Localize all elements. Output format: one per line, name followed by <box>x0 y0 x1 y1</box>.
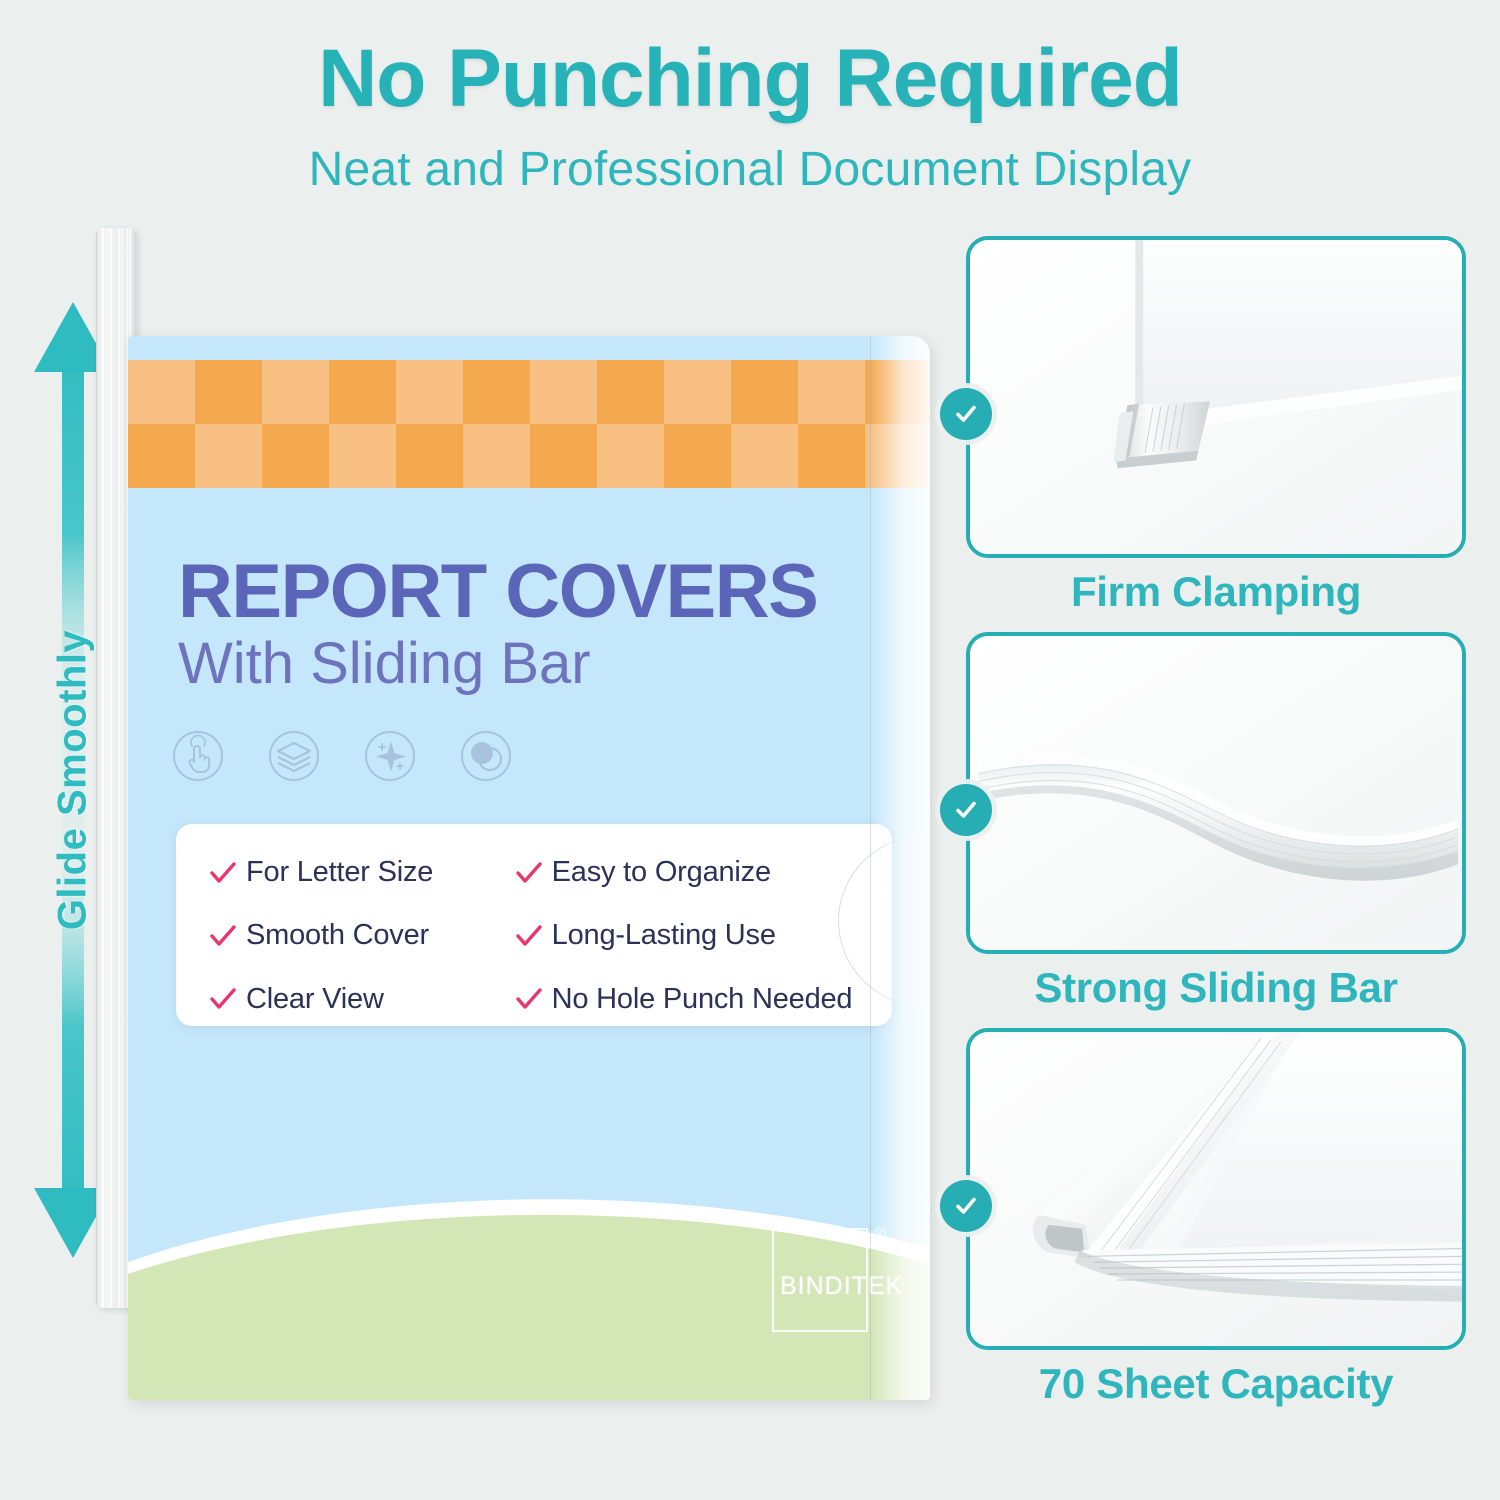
cover-title: REPORT COVERS <box>178 554 817 630</box>
overlapping-circles-icon <box>460 730 512 782</box>
check-glyph <box>951 795 981 825</box>
registered-trademark-icon: ® <box>873 1224 886 1244</box>
panel-caption: Strong Sliding Bar <box>966 964 1466 1012</box>
paper-stack-photo <box>970 1032 1462 1349</box>
check-icon <box>210 862 236 884</box>
sliding-bar-closeup-photo <box>970 636 1462 953</box>
check-circle-icon <box>940 784 992 836</box>
panel-frame <box>966 236 1466 558</box>
panel-frame <box>966 632 1466 954</box>
check-glyph <box>951 1191 981 1221</box>
page-headline: No Punching Required <box>0 38 1500 120</box>
check-circle-icon <box>940 1180 992 1232</box>
glide-label: Glide Smoothly <box>51 630 96 930</box>
panel-caption: 70 Sheet Capacity <box>966 1360 1466 1408</box>
cover-icon-row <box>172 730 512 782</box>
brand-name: BINDITEK <box>780 1272 903 1301</box>
feature-label: For Letter Size <box>246 856 433 889</box>
panel-caption: Firm Clamping <box>966 568 1466 616</box>
brand-logo: BINDITEK ® <box>764 1220 882 1338</box>
product-cover: REPORT COVERS With Sliding Bar <box>128 336 930 1400</box>
check-icon <box>516 988 542 1010</box>
feature-label: Long-Lasting Use <box>552 919 776 952</box>
layers-stack-icon <box>268 730 320 782</box>
checkerboard-band <box>128 360 930 488</box>
sliding-bar-clamp-photo <box>970 240 1462 557</box>
page-subheadline: Neat and Professional Document Display <box>0 142 1500 197</box>
panel-frame <box>966 1028 1466 1350</box>
sparkle-shine-icon <box>364 730 416 782</box>
feature-checklist-card: For Letter Size Easy to Organize Smooth … <box>176 824 892 1026</box>
feature-panel-strong-sliding-bar[interactable]: Strong Sliding Bar <box>966 632 1466 1012</box>
feature-item: For Letter Size <box>210 846 516 899</box>
feature-item: Smooth Cover <box>210 909 516 962</box>
feature-panel-firm-clamping[interactable]: Firm Clamping <box>966 236 1466 616</box>
feature-item: Long-Lasting Use <box>516 909 858 962</box>
check-icon <box>210 988 236 1010</box>
header: No Punching Required Neat and Profession… <box>0 0 1500 197</box>
check-icon <box>210 925 236 947</box>
check-icon <box>516 925 542 947</box>
touch-hand-icon <box>172 730 224 782</box>
feature-item: No Hole Punch Needed <box>516 973 858 1026</box>
feature-label: Easy to Organize <box>552 856 771 889</box>
feature-label: No Hole Punch Needed <box>552 983 853 1016</box>
cover-subtitle: With Sliding Bar <box>178 632 591 696</box>
feature-item: Clear View <box>210 973 516 1026</box>
check-glyph <box>951 399 981 429</box>
feature-label: Smooth Cover <box>246 919 429 952</box>
feature-panels: Firm Clamping <box>966 236 1466 1424</box>
feature-item: Easy to Organize <box>516 846 858 899</box>
check-icon <box>516 862 542 884</box>
check-circle-icon <box>940 388 992 440</box>
feature-label: Clear View <box>246 983 384 1016</box>
feature-panel-70-sheet-capacity[interactable]: 70 Sheet Capacity <box>966 1028 1466 1408</box>
